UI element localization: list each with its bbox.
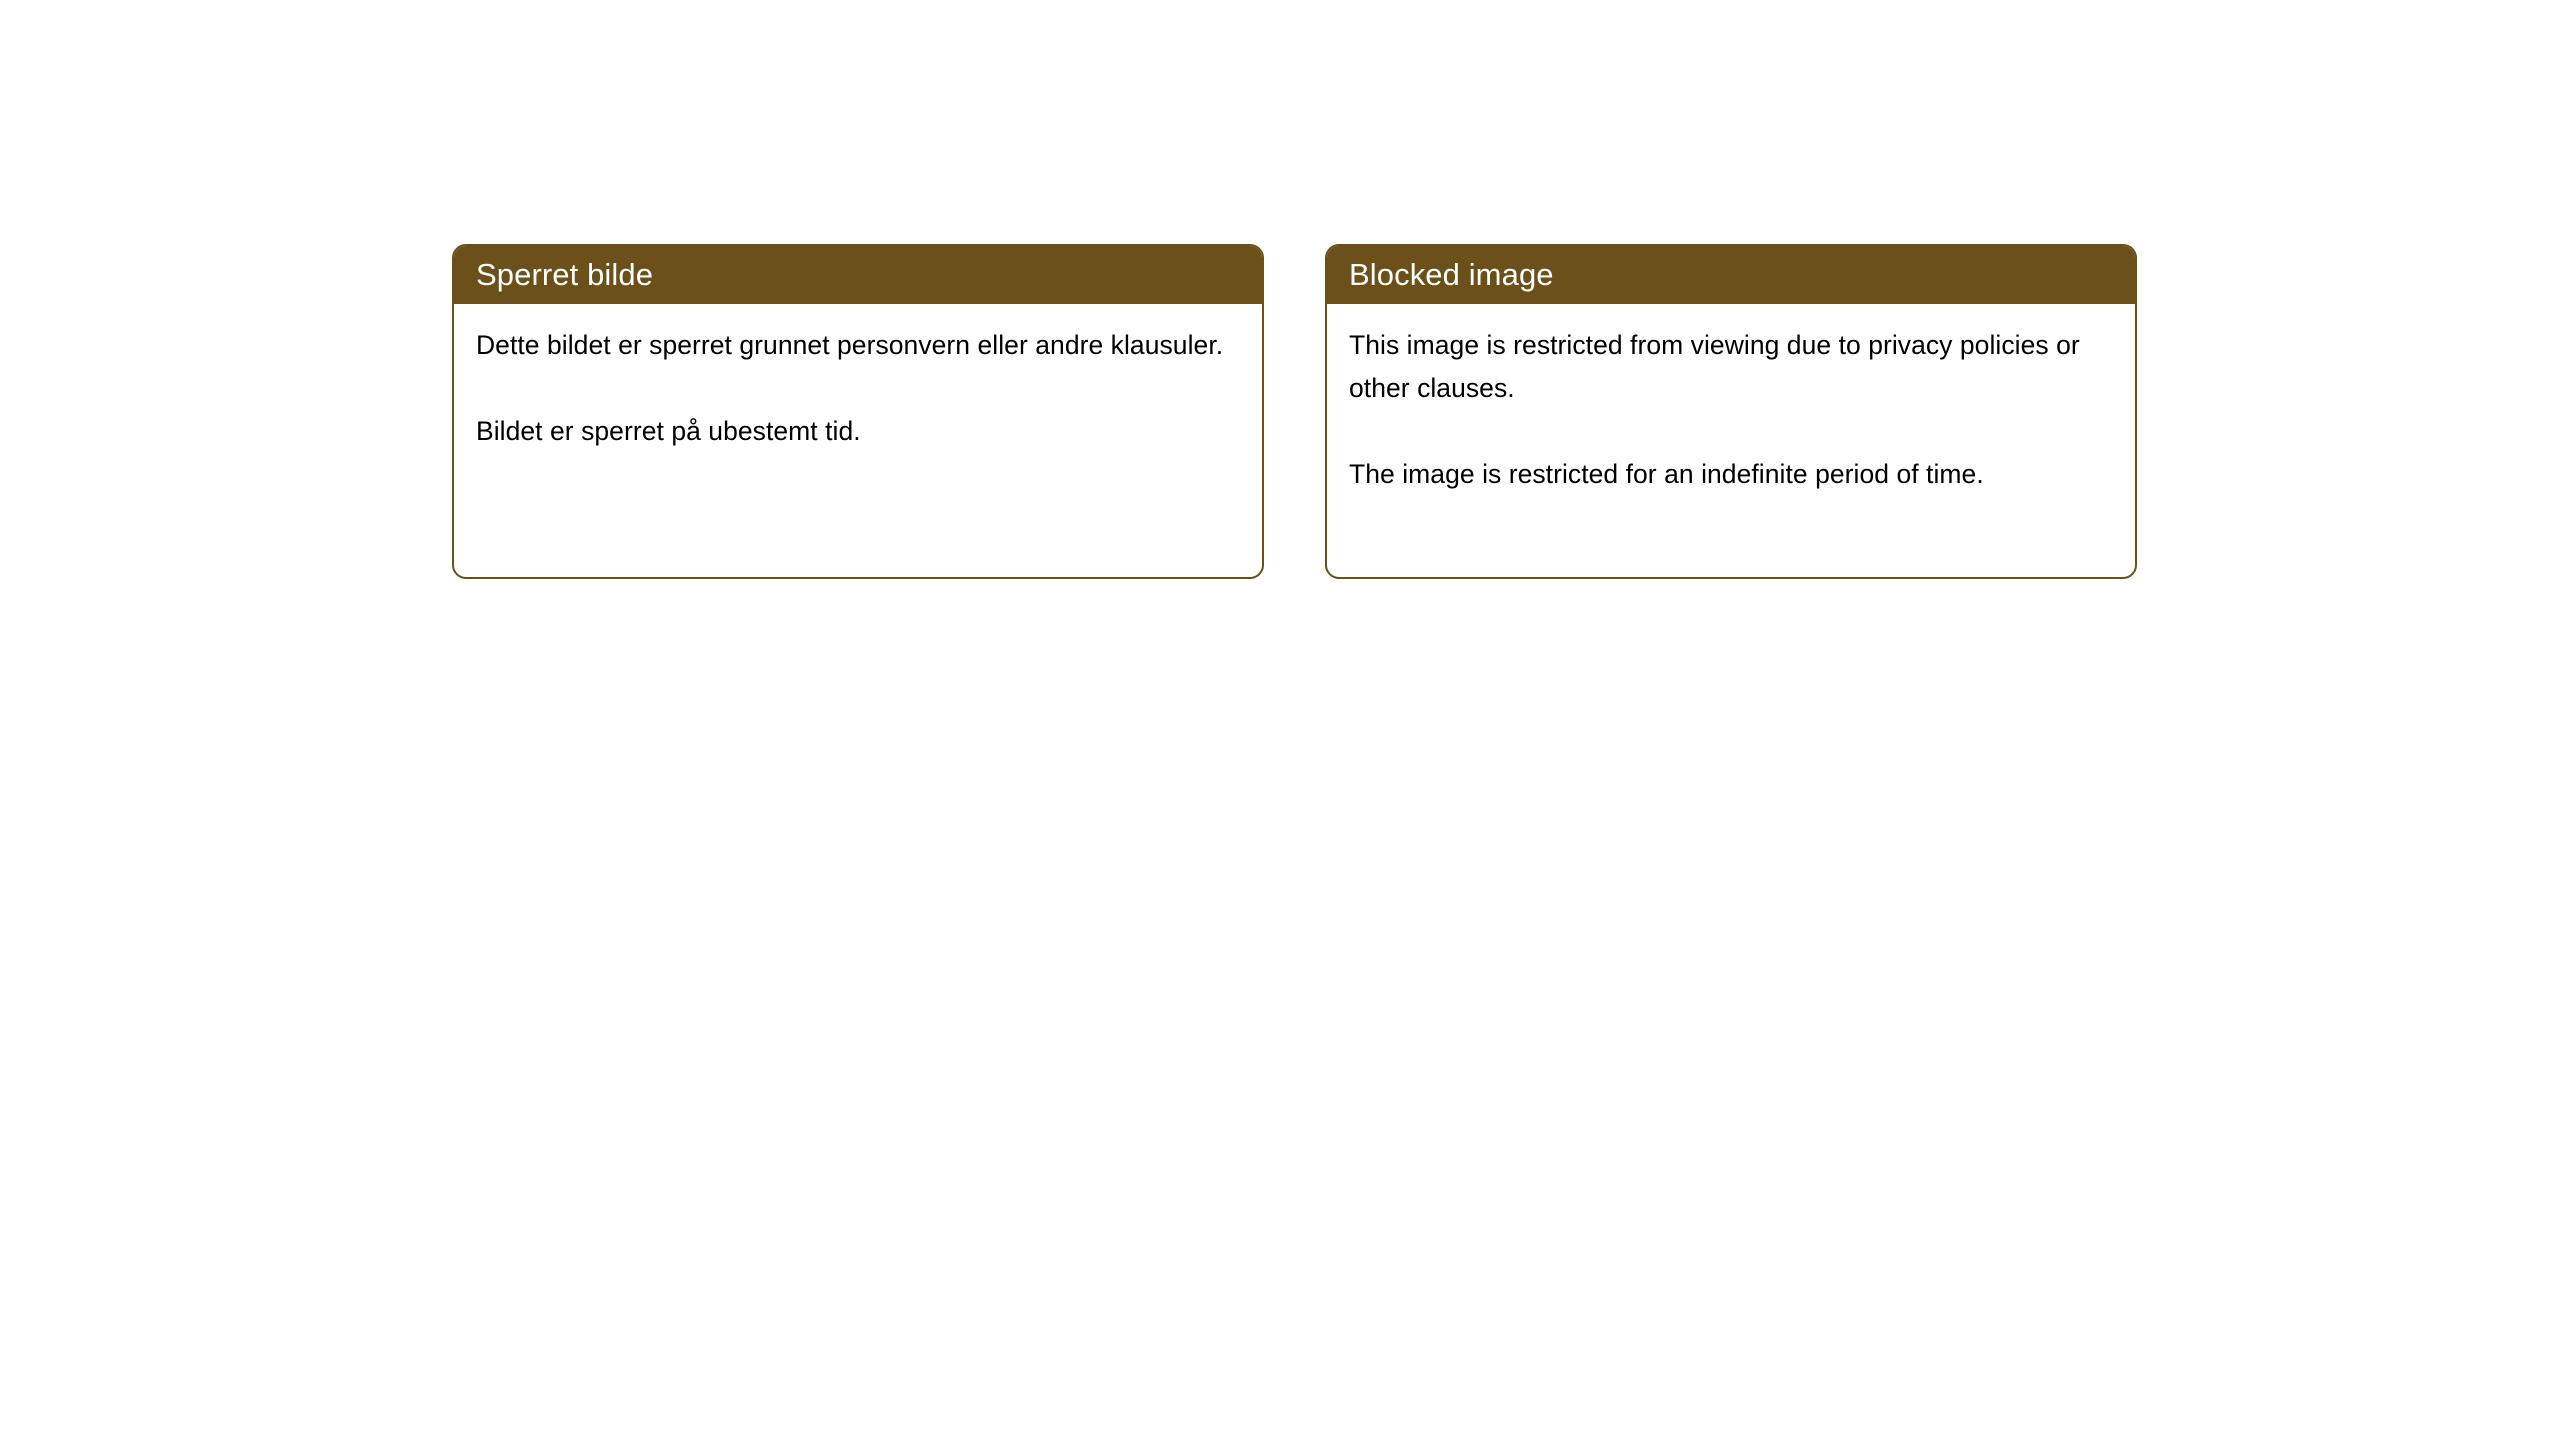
blocked-image-notice-english: Blocked image This image is restricted f… [1325, 244, 2137, 579]
notice-header-norwegian: Sperret bilde [454, 246, 1262, 304]
notice-paragraph-secondary-english: The image is restricted for an indefinit… [1349, 453, 2111, 496]
notice-paragraph-primary-english: This image is restricted from viewing du… [1349, 324, 2111, 410]
notice-title-norwegian: Sperret bilde [476, 257, 653, 293]
notice-paragraph-secondary-norwegian: Bildet er sperret på ubestemt tid. [476, 410, 1238, 453]
page-canvas: Sperret bilde Dette bildet er sperret gr… [0, 0, 2560, 1440]
notice-header-english: Blocked image [1327, 246, 2135, 304]
paragraph-spacer [1349, 410, 2111, 453]
notice-title-english: Blocked image [1349, 257, 1554, 293]
blocked-image-notice-norwegian: Sperret bilde Dette bildet er sperret gr… [452, 244, 1264, 579]
notice-body-norwegian: Dette bildet er sperret grunnet personve… [454, 304, 1262, 453]
notice-paragraph-primary-norwegian: Dette bildet er sperret grunnet personve… [476, 324, 1238, 367]
paragraph-spacer [476, 367, 1238, 410]
notice-body-english: This image is restricted from viewing du… [1327, 304, 2135, 496]
